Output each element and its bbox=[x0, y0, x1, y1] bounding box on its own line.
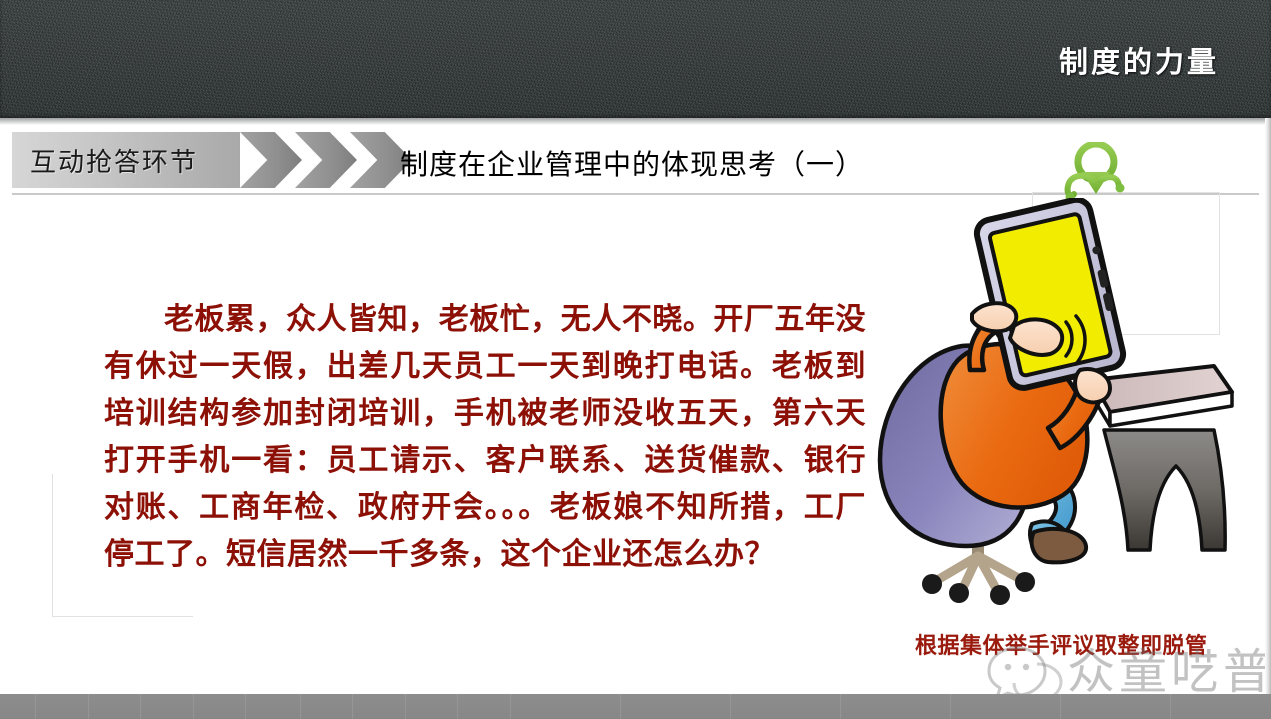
banner: 互动抢答环节 bbox=[12, 132, 392, 188]
chevron-arrow-icon-2 bbox=[295, 132, 357, 188]
section-subtitle: 制度在企业管理中的体现思考（一） bbox=[400, 143, 864, 183]
page-right-edge bbox=[1265, 118, 1271, 694]
bottom-bar bbox=[0, 694, 1271, 719]
banner-label-block: 互动抢答环节 bbox=[12, 132, 240, 188]
page-title: 制度的力量 bbox=[1059, 39, 1219, 81]
banner-label: 互动抢答环节 bbox=[12, 142, 198, 179]
body-paragraph: 老板累，众人皆知，老板忙，无人不晓。开厂五年没有休过一天假，出差几天员工一天到晚… bbox=[104, 296, 866, 578]
person-at-desk-with-tablet-illustration bbox=[862, 198, 1266, 622]
illustration-caption: 根据集体举手评议取整即脱管 bbox=[915, 628, 1208, 660]
chevron-arrow-icon-1 bbox=[240, 132, 302, 188]
header-shadow bbox=[0, 118, 1271, 125]
slide-canvas: 制度的力量 互动抢答环节 制度在企业管理中的体现思考（一） 老板累，众人皆知，老… bbox=[0, 0, 1271, 719]
green-pin-figure-icon bbox=[1056, 142, 1152, 204]
